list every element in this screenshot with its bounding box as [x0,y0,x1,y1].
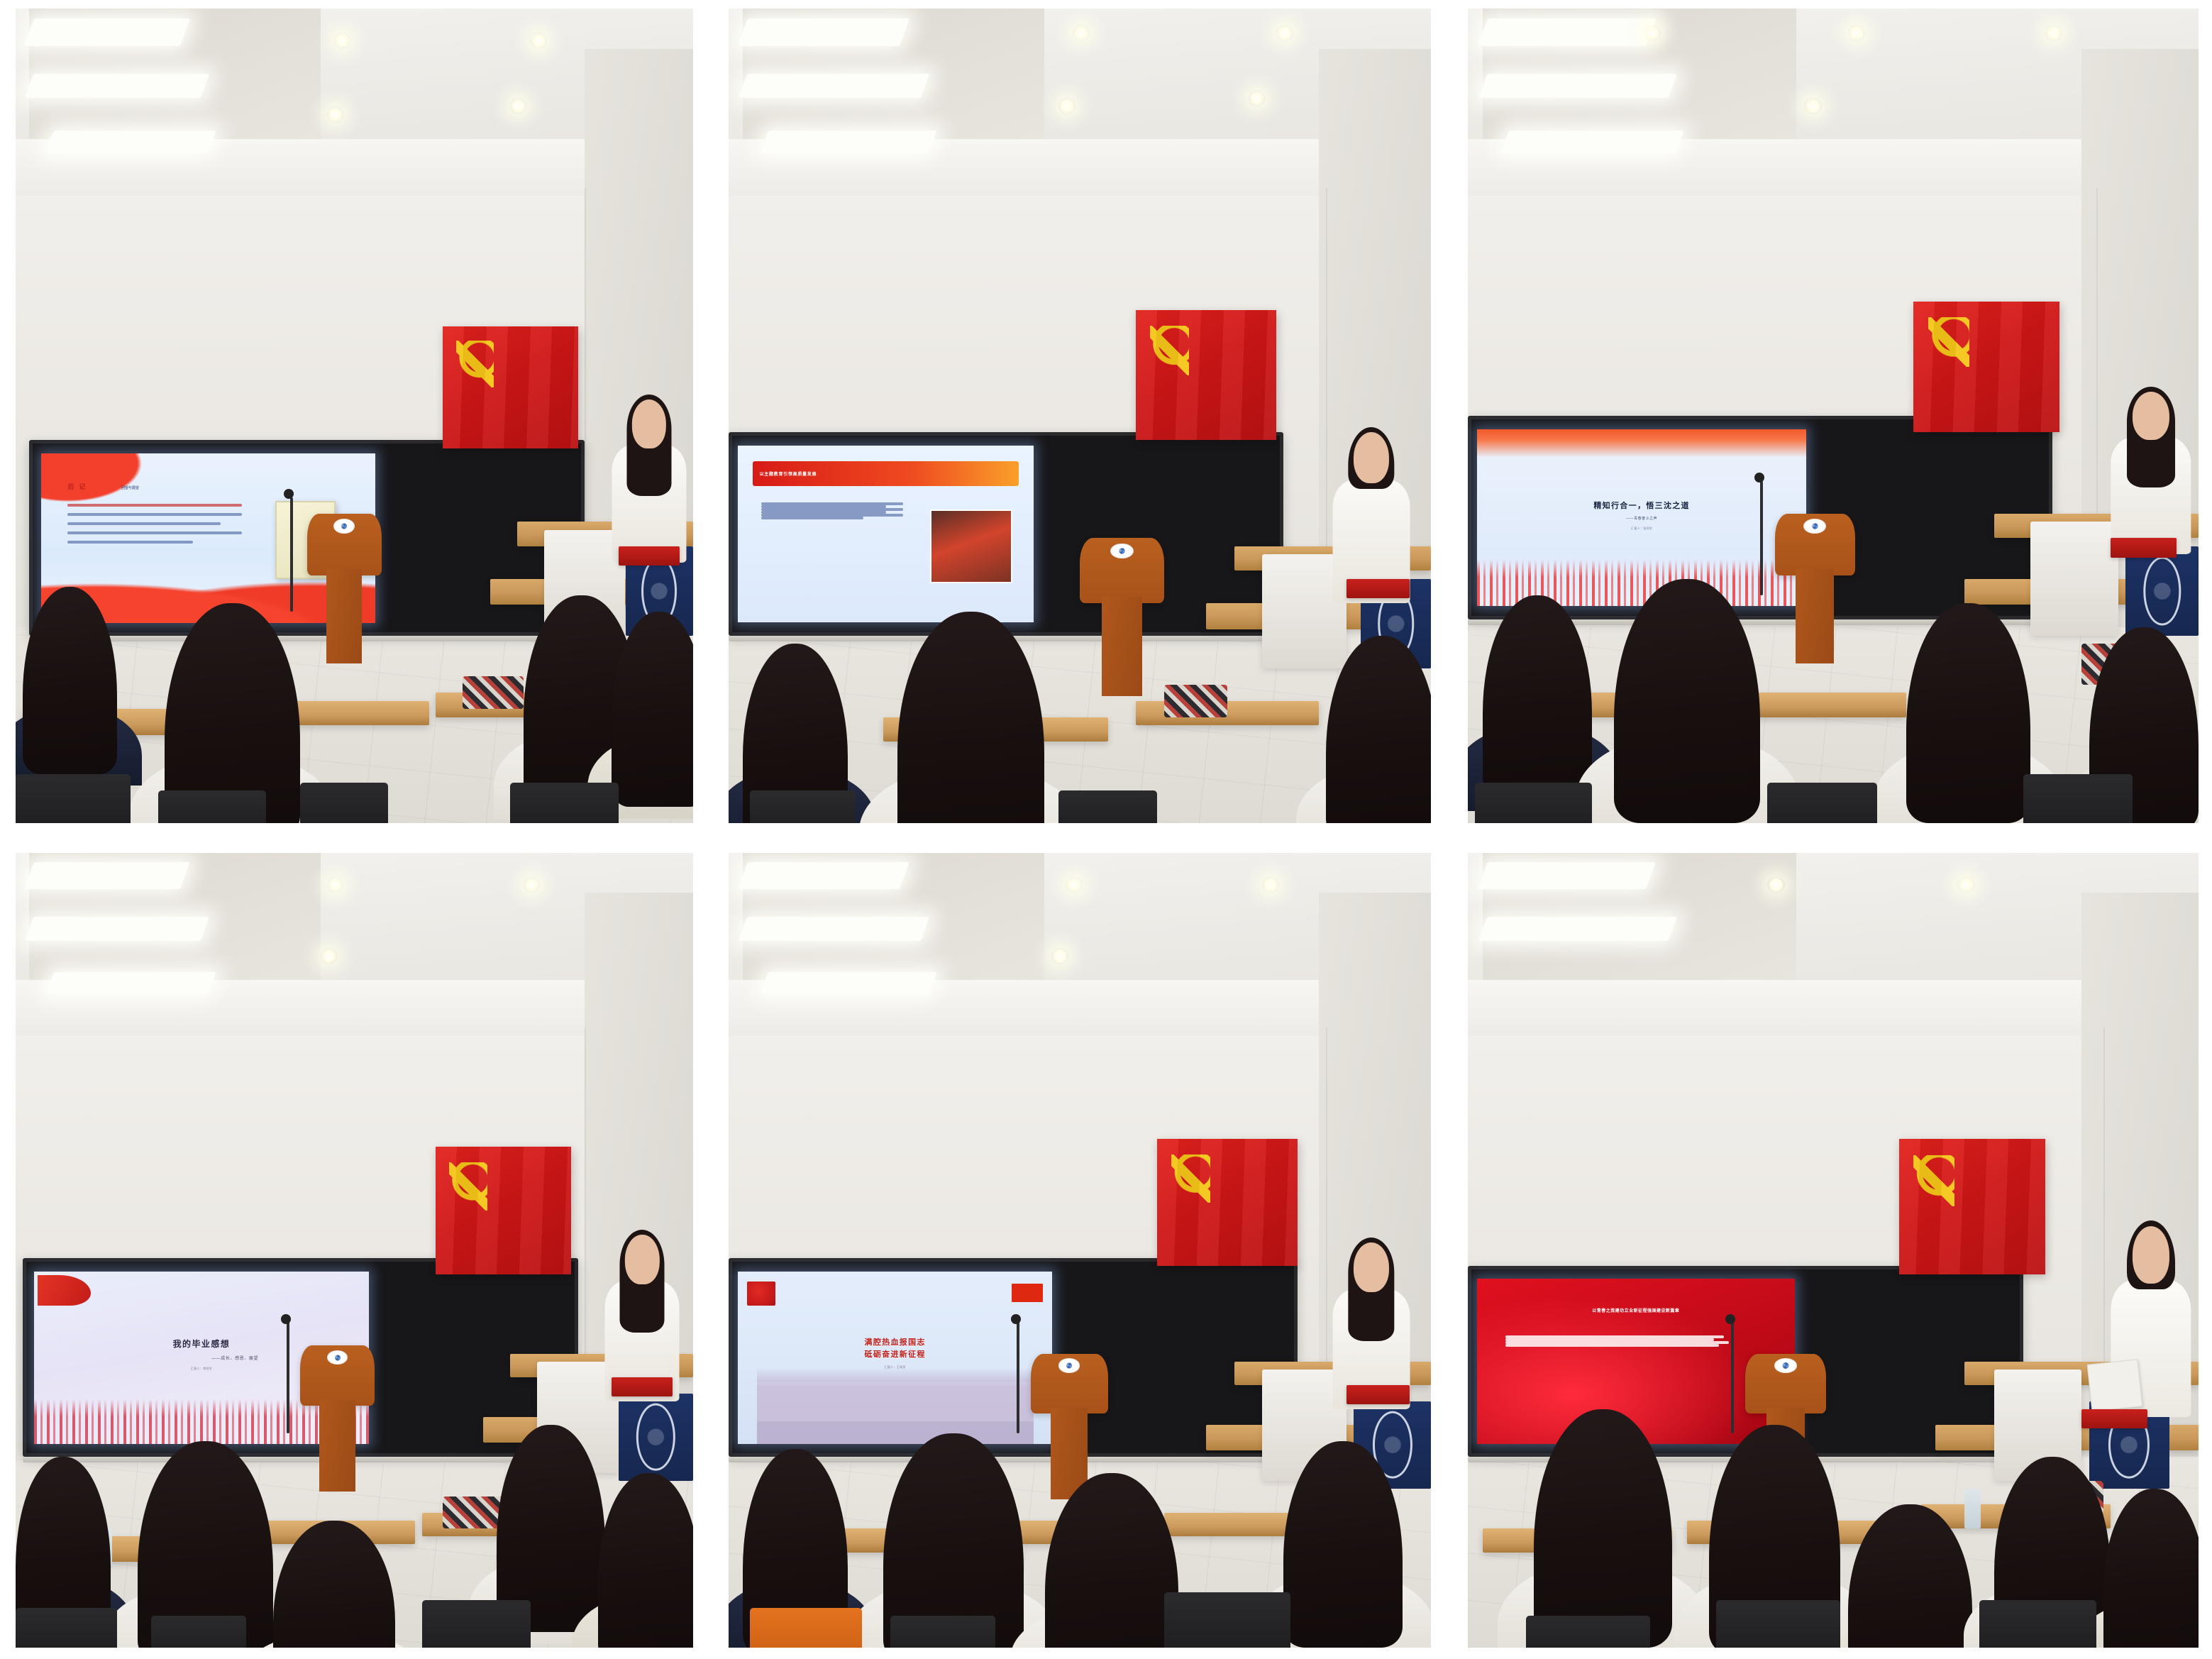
slide-title-line2: 砥砺奋进新征程 [865,1350,926,1360]
university-emblem-icon [1803,519,1826,534]
slide-text-lines [67,504,241,544]
red-certificate [2111,538,2177,558]
ceiling-light-tube [1478,74,1676,98]
chair-back [158,790,267,823]
lectern[interactable] [307,514,382,661]
audience-member [23,587,118,774]
microphone-stand [1731,1322,1734,1433]
ceiling-downlight [1643,25,1661,41]
av-console [2030,522,2118,636]
audience-member [1848,1504,1972,1648]
lectern-top [1031,1354,1108,1414]
presenter [605,1235,680,1401]
slide-inset-photo [930,509,1013,584]
slide-title: 后 记 [67,482,87,491]
photo-1[interactable]: 后 记 回望与展望 [16,9,693,823]
university-emblem-icon [1774,1358,1797,1372]
red-certificate [1346,579,1410,599]
collage-cell-3[interactable]: 精知行合一，悟三沈之道 ——青春奋斗之声 汇报人：张同学 [1455,0,2212,832]
ceiling-downlight [1051,948,1068,964]
chair-back [2023,774,2133,823]
university-emblem-icon [1058,1358,1080,1372]
student-bag [1164,685,1227,717]
lectern[interactable] [1080,538,1164,693]
audience-member [2103,1489,2199,1648]
slide-title: 我的毕业感想 [173,1339,231,1350]
prc-flag-icon [1012,1284,1043,1303]
ceiling-downlight [1804,98,1822,114]
ceiling-downlight [1957,877,1975,893]
ceiling-downlight [1767,877,1785,893]
ceiling-downlight [1276,25,1293,41]
university-emblem-icon [327,1350,348,1365]
audience-member [1483,595,1593,799]
audience-member [273,1521,395,1648]
microphone-icon [1011,1314,1021,1324]
lectern-top [307,514,382,575]
audience-member [612,612,693,808]
audience-member [1614,579,1760,823]
collage-cell-6[interactable]: 以青春之我建功立业新征程强国建设新篇章 [1455,832,2212,1659]
audience-member [897,612,1045,823]
red-certificate [619,546,680,566]
slide-byline: 汇报人：张同学 [1631,527,1652,531]
lectern-body [1796,569,1834,663]
audience-member [598,1473,693,1648]
slide-content: 满腔热血报国志 砥砺奋进新征程 汇报人：王同学 [738,1272,1052,1444]
presenter [1332,432,1410,603]
slide-subtitle: 回望与展望 [121,485,139,490]
chair-back [422,1600,531,1648]
lectern-top [1080,538,1164,603]
chair-back [1164,1592,1290,1648]
ceiling-light-tube [1478,917,1676,941]
presentation-screen[interactable]: 以主题教育引领高质量发展 [738,446,1034,622]
microphone-stand [1017,1322,1019,1433]
ceiling-downlight [1848,25,1866,41]
ceiling-light-tube [738,862,909,889]
audience-member [1045,1473,1178,1648]
ceiling-light-tube [760,972,936,994]
slide-bullets [1505,1335,1754,1347]
ceiling-light-tube [24,18,190,46]
chair-back [1979,1600,2096,1648]
ceiling-light-tube [45,131,216,153]
chair-back [890,1616,996,1648]
ceiling-light-tube [739,917,930,941]
communist-party-flag [436,1147,571,1274]
chair-back [1716,1600,1840,1648]
podium-panel [619,1394,693,1481]
ceiling-light-tube [24,862,189,889]
ceiling-downlight [1262,877,1279,893]
collage-cell-5[interactable]: 满腔热血报国志 砥砺奋进新征程 汇报人：王同学 [716,832,1455,1659]
red-certificate [2081,1409,2147,1428]
communist-party-flag [1136,310,1276,441]
ceiling-downlight [321,948,337,964]
slide-byline: 汇报人：李同学 [191,1367,212,1371]
chair-back [1526,1616,1650,1648]
photo-6[interactable]: 以青春之我建功立业新征程强国建设新篇章 [1468,853,2199,1648]
microphone-icon [281,1314,291,1324]
ceiling-light-tube [738,18,909,46]
lectern-body [1102,597,1142,696]
lectern-body [319,1400,355,1492]
collage-cell-2[interactable]: 以主题教育引领高质量发展 [716,0,1455,832]
lectern[interactable] [1775,514,1855,661]
chair-back [1058,790,1157,823]
chair-back [16,1608,117,1648]
presenter [1332,1242,1410,1409]
ceiling-downlight [1073,25,1090,41]
audience-member [1326,636,1432,823]
chair-back [151,1616,246,1648]
ceiling-light-tube [45,972,216,994]
ceiling-downlight [327,106,343,123]
chair-back [300,783,388,823]
slide-title-line1: 满腔热血报国志 [865,1338,926,1348]
audience-member [1906,603,2030,823]
lectern[interactable] [300,1345,375,1489]
red-certificate [1346,1385,1410,1404]
ceiling-light-tube [739,74,930,98]
microphone-stand [287,1322,289,1433]
chair-back [750,790,856,823]
collage-cell-1[interactable]: 后 记 回望与展望 [0,0,716,832]
ceiling-downlight [531,33,547,49]
lectern-body [326,569,362,663]
lectern-top [1745,1354,1825,1414]
audience-member [1283,1441,1403,1648]
university-emblem-icon [333,519,354,534]
presenter [612,399,686,563]
ceiling-downlight [524,877,540,893]
photo-2[interactable]: 以主题教育引领高质量发展 [729,9,1431,823]
collage-cell-4[interactable]: 我的毕业感想 ——成长、感恩、展望 汇报人：李同学 [0,832,716,1659]
communist-party-flag [443,326,578,448]
presenter [2111,392,2191,555]
ceiling-downlight [1249,90,1266,106]
presenter-paper [2086,1359,2142,1411]
presenter-head [1354,432,1389,483]
presenter-head [2133,392,2169,441]
chair-back [750,1608,862,1648]
slide-title: 精知行合一，悟三沈之道 [1593,502,1690,512]
ceiling-downlight [327,877,343,893]
presenter-head [625,1235,659,1285]
student-bag [463,676,524,709]
microphone-stand [290,497,293,612]
presenter-head [1354,1242,1389,1293]
presenter-head [632,399,666,448]
slide-ribbon-graphic [38,1275,91,1306]
slide-subtitle: ——青春奋斗之声 [1626,516,1657,521]
photo-5[interactable]: 满腔热血报国志 砥砺奋进新征程 汇报人：王同学 [729,853,1431,1648]
communist-party-flag [1157,1139,1298,1266]
red-certificate [612,1377,673,1396]
lectern-top [300,1345,375,1406]
ceiling-light-tube [1478,862,1656,889]
chair-back [1767,783,1877,823]
slide-text-lines [761,502,903,519]
party-emblem-icon [747,1282,775,1306]
slide-banner-text: 以主题教育引领高质量发展 [760,470,817,477]
presenter-head [2133,1226,2169,1284]
photo-collage: 后 记 回望与展望 [0,0,2212,1659]
microphone-icon [1725,1314,1735,1324]
slide-title: 以青春之我建功立业新征程强国建设新篇章 [1503,1307,1770,1313]
photo-3[interactable]: 精知行合一，悟三沈之道 ——青春奋斗之声 汇报人：张同学 [1468,9,2199,823]
slide-banner: 以主题教育引领高质量发展 [753,461,1019,486]
ceiling-light-tube [25,74,210,98]
communist-party-flag [1913,302,2059,432]
chair-back [1475,783,1592,823]
classroom-blackboard[interactable]: 以主题教育引领高质量发展 [729,432,1283,636]
podium-panel [2125,546,2199,636]
chair-back [16,774,131,823]
photo-4[interactable]: 我的毕业感想 ——成长、感恩、展望 汇报人：李同学 [16,853,693,1648]
ceiling-downlight [334,33,350,49]
ceiling-light-tube [25,917,210,941]
ceiling-light-tube [1477,18,1655,46]
presentation-screen[interactable]: 满腔热血报国志 砥砺奋进新征程 汇报人：王同学 [738,1272,1052,1444]
student-bag [443,1497,504,1528]
communist-party-flag [1899,1139,2045,1274]
ceiling-light-tube [1500,131,1684,153]
slide-content: 以主题教育引领高质量发展 [738,446,1034,622]
microphone-stand [1760,481,1763,595]
slide-subtitle: ——成长、感恩、展望 [211,1355,258,1361]
chair-back [510,783,619,823]
audience-member [1534,1409,1673,1648]
lectern-top [1775,514,1855,575]
university-emblem-icon [1110,544,1134,559]
ceiling-downlight [2045,25,2063,41]
ceiling-light-tube [760,131,936,153]
ceiling-downlight [1066,877,1083,893]
